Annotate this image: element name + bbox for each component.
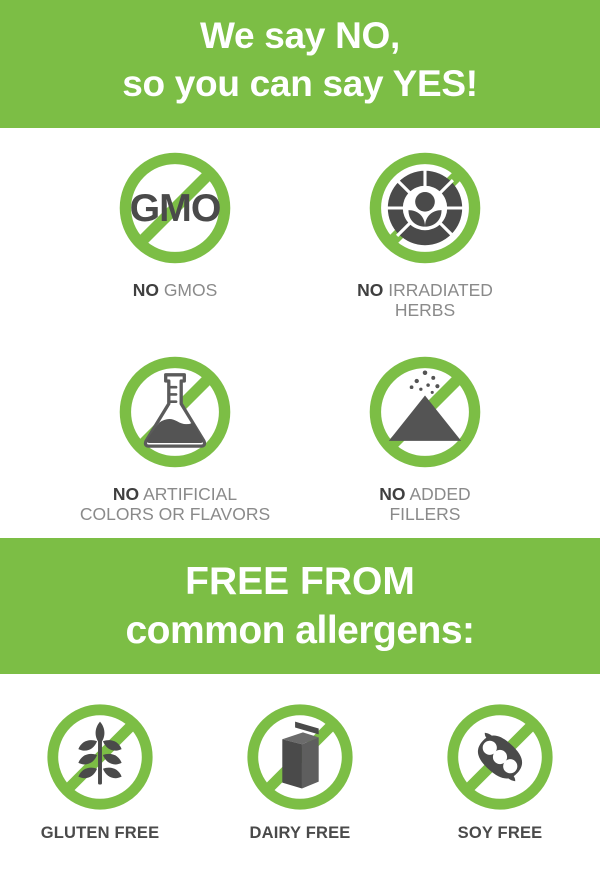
allergen-banner: FREE FROM common allergens: [0,538,600,674]
radiation-disc [386,169,465,245]
allergen-banner-line-2: common allergens: [0,606,600,656]
claim-label-no: NO [113,484,139,504]
header-line-1: We say NO, [0,12,600,60]
header-line-2: so you can say YES! [0,60,600,108]
claims-row-1: GMO NO GMOS [0,136,600,320]
claim-label-no: NO [379,484,405,504]
milk-carton-shape [282,722,318,789]
claim-label: NO IRRADIATED HERBS [357,280,493,320]
claim-label: NO GMOS [133,280,218,300]
no-irradiated-herbs-icon [363,146,487,270]
claim-label: NO ARTIFICIAL COLORS OR FLAVORS [80,484,270,524]
claim-label-text-2: HERBS [357,300,493,320]
dairy-free-icon [241,698,359,816]
allergen-label: SOY FREE [458,824,543,843]
claim-no-added-fillers: NO ADDED FILLERS [300,350,550,524]
claim-no-irradiated-herbs: NO IRRADIATED HERBS [300,146,550,320]
allergen-gluten-free: GLUTEN FREE [0,698,200,843]
allergen-banner-line-1: FREE FROM [0,558,600,606]
claim-label-text: GMOS [164,280,217,300]
no-gmo-icon: GMO [113,146,237,270]
wheat-shape [78,722,121,785]
allergen-label: GLUTEN FREE [41,824,160,843]
no-artificial-colors-flavors-icon [113,350,237,474]
claim-label-text-2: COLORS OR FLAVORS [80,504,270,524]
falling-particles [410,370,440,393]
allergen-dairy-free: DAIRY FREE [200,698,400,843]
gluten-free-icon [41,698,159,816]
header-banner: We say NO, so you can say YES! [0,0,600,128]
gmo-text: GMO [130,186,221,230]
allergen-section: GLUTEN FREE DAIRY FREE [0,674,600,882]
claim-label: NO ADDED FILLERS [379,484,470,524]
claim-label-text: IRRADIATED [388,280,493,300]
allergen-soy-free: SOY FREE [400,698,600,843]
claim-label-text: ARTIFICIAL [143,484,237,504]
claim-label-no: NO [133,280,159,300]
claim-no-gmos: GMO NO GMOS [50,146,300,300]
claims-row-2: NO ARTIFICIAL COLORS OR FLAVORS [0,320,600,524]
allergen-label: DAIRY FREE [249,824,350,843]
no-claims-section: GMO NO GMOS [0,128,600,538]
claim-label-text: ADDED [409,484,470,504]
claim-no-artificial-colors-flavors: NO ARTIFICIAL COLORS OR FLAVORS [50,350,300,524]
infographic-page: We say NO, so you can say YES! GMO NO GM… [0,0,600,882]
soy-free-icon [441,698,559,816]
claim-label-no: NO [357,280,383,300]
claim-label-text-2: FILLERS [379,504,470,524]
no-added-fillers-icon [363,350,487,474]
